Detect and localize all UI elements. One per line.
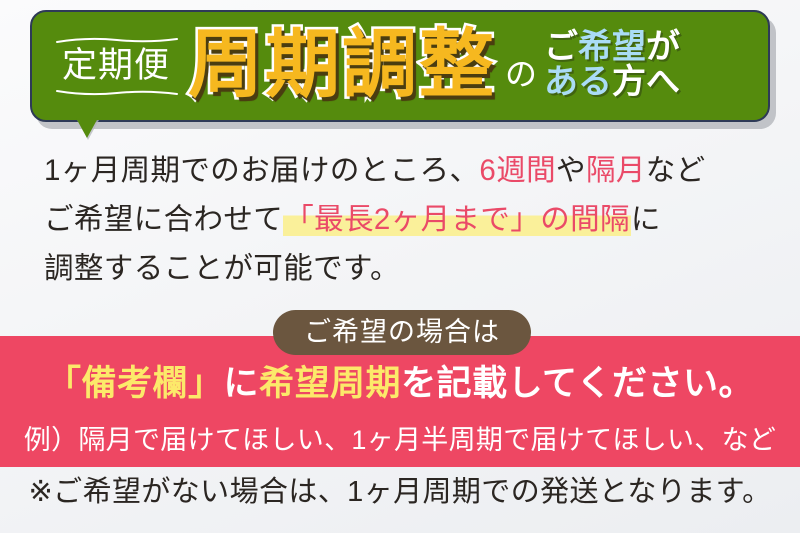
body-line1-part-e: など (646, 154, 706, 187)
pink-headline-part-d: を記載してください。 (401, 364, 754, 403)
pink-headline-part-b: に (224, 364, 260, 403)
footer-note: ※ご希望がない場合は、1ヶ月周期での発送となります。 (0, 478, 800, 507)
pink-band-example-text: 例）隔月で届けてほしい、1ヶ月半周期で届けてほしい、など (0, 427, 800, 454)
speech-bubble-tail-icon (76, 118, 98, 138)
body-paragraph: 1ヶ月周期でのお届けのところ、6週間や隔月など ご希望に合わせて「最長2ヶ月まで… (44, 146, 770, 293)
header-wish-line-2: ある方へ (544, 65, 680, 100)
header-wish-line-1: ご希望が (544, 30, 680, 65)
body-line2-highlighted-interval: 「最長2ヶ月まで」の間隔 (283, 203, 631, 236)
body-line1-emphasis-every-other-month: 隔月 (586, 154, 646, 187)
promo-banner: 定期便 周期調整 の ご希望が ある方へ 1ヶ月周期でのお届けのところ、6週間や… (0, 0, 800, 533)
header-main-title: 周期調整 (188, 27, 496, 102)
body-line-2: ご希望に合わせて「最長2ヶ月まで」の間隔に (44, 195, 770, 244)
body-line-1: 1ヶ月周期でのお届けのところ、6週間や隔月など (44, 146, 770, 195)
subscription-badge-label: 定期便 (62, 46, 170, 85)
header-wish-line1-part-a: ご (544, 28, 578, 66)
pink-headline-part-desired-cycle: 希望周期 (259, 364, 401, 403)
header-green-box: 定期便 周期調整 の ご希望が ある方へ (30, 10, 770, 122)
wavy-rule-bottom-icon (56, 89, 178, 96)
wavy-rule-top-icon (56, 37, 178, 44)
header-wish-text: ご希望が ある方へ (544, 30, 680, 99)
pink-band-headline: 「備考欄」に希望周期を記載してください。 (0, 366, 800, 401)
body-line1-part-c: や (556, 154, 586, 187)
header-wish-line1-part-b: 希望 (578, 28, 646, 66)
pink-headline-part-remarks-field: 「備考欄」 (46, 364, 224, 403)
wish-case-pill-label: ご希望の場合は (273, 310, 531, 355)
body-line1-part-a: 1ヶ月周期でのお届けのところ、 (44, 154, 479, 187)
body-line1-emphasis-six-weeks: 6週間 (479, 154, 556, 187)
body-line-3: 調整することが可能です。 (44, 244, 770, 293)
header-wish-line2-part-b: 方へ (612, 63, 680, 101)
header-wish-line2-part-a: ある (544, 63, 612, 101)
header-wish-line1-part-c: が (646, 28, 680, 66)
body-line2-part-c: に (631, 203, 661, 236)
header-connector-particle: の (505, 58, 537, 90)
subscription-badge: 定期便 (58, 39, 174, 94)
header-section: 定期便 周期調整 の ご希望が ある方へ (0, 0, 800, 150)
body-line2-part-a: ご希望に合わせて (44, 203, 283, 236)
